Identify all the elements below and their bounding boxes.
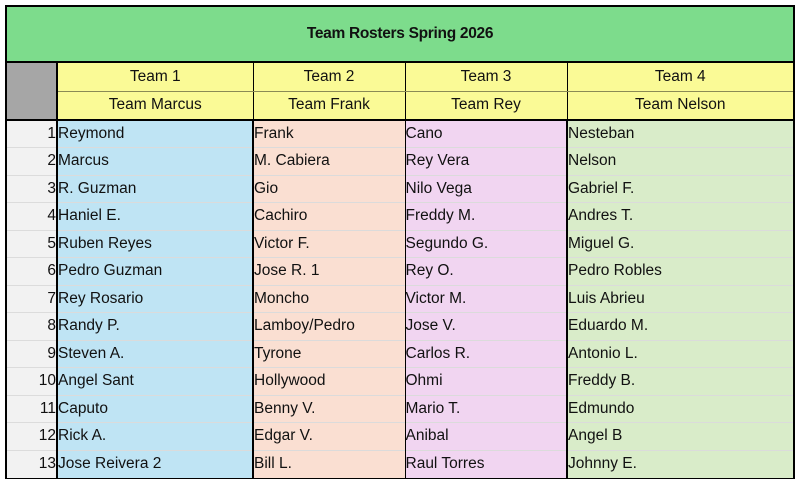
table-row: 9 Steven A. Tyrone Carlos R. Antonio L. bbox=[7, 340, 793, 368]
header-team-2-name: Team Frank bbox=[253, 91, 405, 120]
cell-team4-player: Nelson bbox=[567, 148, 793, 176]
cell-team2-player: Tyrone bbox=[253, 340, 405, 368]
table-row: 7 Rey Rosario Moncho Victor M. Luis Abri… bbox=[7, 285, 793, 313]
cell-team4-player: Eduardo M. bbox=[567, 313, 793, 341]
cell-team1-player: Haniel E. bbox=[57, 203, 253, 231]
row-number: 9 bbox=[7, 340, 57, 368]
cell-team2-player: Hollywood bbox=[253, 368, 405, 396]
row-number: 11 bbox=[7, 395, 57, 423]
row-number: 10 bbox=[7, 368, 57, 396]
title-row: Team Rosters Spring 2026 bbox=[7, 7, 793, 62]
cell-team2-player: Victor F. bbox=[253, 230, 405, 258]
cell-team2-player: M. Cabiera bbox=[253, 148, 405, 176]
header-team-4-number: Team 4 bbox=[567, 62, 793, 91]
cell-team2-player: Bill L. bbox=[253, 450, 405, 478]
cell-team1-player: Caputo bbox=[57, 395, 253, 423]
cell-team4-player: Edmundo bbox=[567, 395, 793, 423]
header-team-4-name: Team Nelson bbox=[567, 91, 793, 120]
cell-team3-player: Mario T. bbox=[405, 395, 567, 423]
table-row: 3 R. Guzman Gio Nilo Vega Gabriel F. bbox=[7, 175, 793, 203]
row-number: 1 bbox=[7, 120, 57, 148]
cell-team3-player: Nilo Vega bbox=[405, 175, 567, 203]
cell-team3-player: Anibal bbox=[405, 423, 567, 451]
cell-team1-player: Marcus bbox=[57, 148, 253, 176]
header-team-3-number: Team 3 bbox=[405, 62, 567, 91]
cell-team3-player: Raul Torres bbox=[405, 450, 567, 478]
table-row: 1 Reymond Frank Cano Nesteban bbox=[7, 120, 793, 148]
cell-team1-player: Rick A. bbox=[57, 423, 253, 451]
header-team-1-number: Team 1 bbox=[57, 62, 253, 91]
row-number: 12 bbox=[7, 423, 57, 451]
cell-team4-player: Antonio L. bbox=[567, 340, 793, 368]
cell-team1-player: Rey Rosario bbox=[57, 285, 253, 313]
row-number: 5 bbox=[7, 230, 57, 258]
cell-team3-player: Carlos R. bbox=[405, 340, 567, 368]
row-number: 13 bbox=[7, 450, 57, 478]
cell-team4-player: Angel B bbox=[567, 423, 793, 451]
table-row: 12 Rick A. Edgar V. Anibal Angel B bbox=[7, 423, 793, 451]
cell-team2-player: Benny V. bbox=[253, 395, 405, 423]
cell-team1-player: Ruben Reyes bbox=[57, 230, 253, 258]
cell-team2-player: Cachiro bbox=[253, 203, 405, 231]
cell-team4-player: Miguel G. bbox=[567, 230, 793, 258]
table-row: 4 Haniel E. Cachiro Freddy M. Andres T. bbox=[7, 203, 793, 231]
cell-team2-player: Frank bbox=[253, 120, 405, 148]
table-row: 5 Ruben Reyes Victor F. Segundo G. Migue… bbox=[7, 230, 793, 258]
cell-team1-player: Reymond bbox=[57, 120, 253, 148]
table-row: 6 Pedro Guzman Jose R. 1 Rey O. Pedro Ro… bbox=[7, 258, 793, 286]
corner-cell bbox=[7, 62, 57, 120]
cell-team3-player: Ohmi bbox=[405, 368, 567, 396]
row-number: 3 bbox=[7, 175, 57, 203]
table-row: 11 Caputo Benny V. Mario T. Edmundo bbox=[7, 395, 793, 423]
cell-team1-player: Angel Sant bbox=[57, 368, 253, 396]
cell-team3-player: Freddy M. bbox=[405, 203, 567, 231]
cell-team4-player: Freddy B. bbox=[567, 368, 793, 396]
cell-team2-player: Gio bbox=[253, 175, 405, 203]
team-roster-table: Team Rosters Spring 2026 Team 1 Team 2 T… bbox=[7, 7, 793, 478]
table-row: 10 Angel Sant Hollywood Ohmi Freddy B. bbox=[7, 368, 793, 396]
header-team-2-number: Team 2 bbox=[253, 62, 405, 91]
cell-team1-player: R. Guzman bbox=[57, 175, 253, 203]
row-number: 4 bbox=[7, 203, 57, 231]
header-team-3-name: Team Rey bbox=[405, 91, 567, 120]
table-body: Team Rosters Spring 2026 Team 1 Team 2 T… bbox=[7, 7, 793, 478]
cell-team2-player: Lamboy/Pedro bbox=[253, 313, 405, 341]
cell-team1-player: Randy P. bbox=[57, 313, 253, 341]
cell-team3-player: Rey O. bbox=[405, 258, 567, 286]
cell-team3-player: Rey Vera bbox=[405, 148, 567, 176]
cell-team1-player: Jose Reivera 2 bbox=[57, 450, 253, 478]
cell-team3-player: Segundo G. bbox=[405, 230, 567, 258]
roster-sheet: Team Rosters Spring 2026 Team 1 Team 2 T… bbox=[5, 5, 795, 479]
table-row: 13 Jose Reivera 2 Bill L. Raul Torres Jo… bbox=[7, 450, 793, 478]
cell-team2-player: Edgar V. bbox=[253, 423, 405, 451]
header-row-team-numbers: Team 1 Team 2 Team 3 Team 4 bbox=[7, 62, 793, 91]
cell-team4-player: Nesteban bbox=[567, 120, 793, 148]
cell-team2-player: Jose R. 1 bbox=[253, 258, 405, 286]
cell-team2-player: Moncho bbox=[253, 285, 405, 313]
header-team-1-name: Team Marcus bbox=[57, 91, 253, 120]
row-number: 8 bbox=[7, 313, 57, 341]
row-number: 6 bbox=[7, 258, 57, 286]
row-number: 7 bbox=[7, 285, 57, 313]
cell-team3-player: Cano bbox=[405, 120, 567, 148]
cell-team4-player: Johnny E. bbox=[567, 450, 793, 478]
cell-team4-player: Pedro Robles bbox=[567, 258, 793, 286]
page-title: Team Rosters Spring 2026 bbox=[7, 7, 793, 62]
table-row: 8 Randy P. Lamboy/Pedro Jose V. Eduardo … bbox=[7, 313, 793, 341]
cell-team3-player: Victor M. bbox=[405, 285, 567, 313]
cell-team3-player: Jose V. bbox=[405, 313, 567, 341]
header-row-team-names: Team Marcus Team Frank Team Rey Team Nel… bbox=[7, 91, 793, 120]
cell-team1-player: Steven A. bbox=[57, 340, 253, 368]
cell-team4-player: Gabriel F. bbox=[567, 175, 793, 203]
cell-team4-player: Andres T. bbox=[567, 203, 793, 231]
table-row: 2 Marcus M. Cabiera Rey Vera Nelson bbox=[7, 148, 793, 176]
cell-team1-player: Pedro Guzman bbox=[57, 258, 253, 286]
cell-team4-player: Luis Abrieu bbox=[567, 285, 793, 313]
row-number: 2 bbox=[7, 148, 57, 176]
